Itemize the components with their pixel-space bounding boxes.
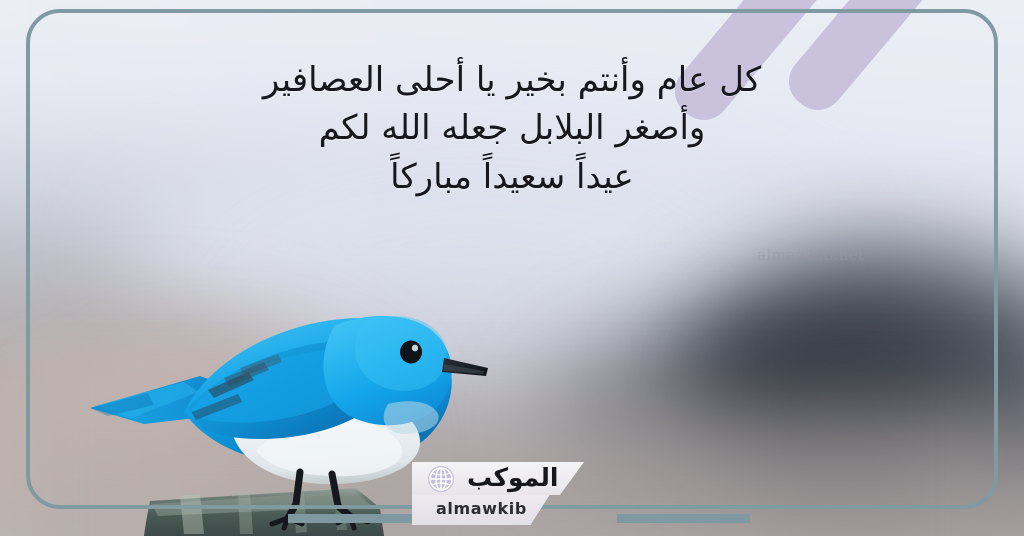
- greeting-line-3: عيداً سعيداً مباركاً: [150, 153, 874, 201]
- logo-arabic-name: الموكب: [467, 463, 558, 492]
- greeting-card: كل عام وأنتم بخير يا أحلى العصافير وأصغر…: [0, 0, 1024, 536]
- bird-eye: [400, 341, 422, 364]
- greeting-line-2: وأصغر البلابل جعله الله لكم: [150, 104, 874, 152]
- logo-rule-left: [288, 514, 421, 523]
- greeting-text: كل عام وأنتم بخير يا أحلى العصافير وأصغر…: [0, 56, 1024, 201]
- globe-icon: [426, 465, 456, 493]
- logo-latin-name: almawkib: [436, 499, 527, 518]
- site-logo[interactable]: الموكب almawkib: [412, 462, 608, 530]
- watermark-text: almawkib.net: [757, 246, 864, 264]
- greeting-line-1: كل عام وأنتم بخير يا أحلى العصافير: [150, 56, 874, 104]
- logo-rule-right: [617, 514, 750, 523]
